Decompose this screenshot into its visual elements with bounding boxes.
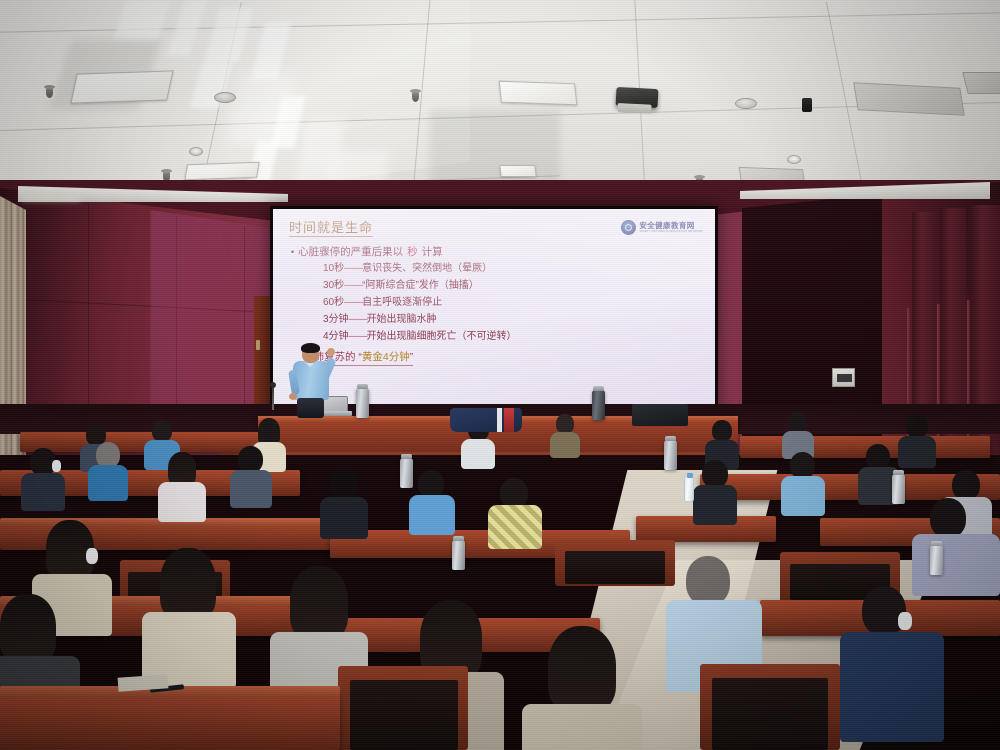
- bullet-dot-icon: •: [291, 247, 294, 258]
- slide-body: • 心脏骤停的严重后果以秒计算 10秒——意识丧失、突然倒地（晕厥） 30秒——…: [289, 246, 703, 366]
- person-head: [930, 498, 966, 538]
- item-dash: ——: [349, 314, 367, 325]
- conference-room-photo: 时间就是生命 安全健康教育网 SAFETY AND HEALTH EDUCATI…: [0, 0, 1000, 750]
- person-torso: [488, 505, 542, 549]
- slide-list-item: 30秒——“阿斯综合症”发作（抽搐）: [323, 280, 703, 293]
- person-torso: [230, 470, 272, 508]
- person-hair: [290, 566, 348, 640]
- person-torso: [522, 704, 642, 750]
- person-head: [906, 414, 928, 438]
- person-head: [952, 470, 980, 500]
- person-torso: [21, 473, 65, 511]
- ceiling-shadow: [430, 110, 560, 190]
- person-torso: [898, 436, 936, 468]
- person-head: [788, 412, 807, 433]
- item-time: 4分钟: [323, 331, 349, 342]
- face-mask-icon: [52, 460, 61, 472]
- conclusion-suffix: ”: [410, 351, 414, 363]
- thermos-flask: [930, 545, 943, 575]
- cove-light: [22, 197, 80, 201]
- item-text: 开始出现脑细胞死亡（不可逆转）: [367, 331, 517, 342]
- person-head: [790, 452, 815, 479]
- slide-list-item: 3分钟——开始出现脑水肿: [323, 314, 703, 327]
- chair-back-panel: [350, 680, 458, 750]
- item-time: 60秒: [323, 297, 344, 308]
- person-hair: [168, 452, 196, 486]
- smoke-detector-icon: [735, 98, 757, 109]
- presenter-torso: [293, 361, 329, 400]
- thermos-flask: [592, 390, 605, 420]
- person-torso: [409, 495, 455, 535]
- presenter-speaker: [286, 344, 338, 416]
- person-head: [500, 478, 528, 508]
- item-dash: ——: [344, 297, 362, 308]
- panel-light: [499, 165, 536, 177]
- item-text: 开始出现脑水肿: [367, 314, 437, 325]
- person-head: [702, 460, 728, 488]
- downlight: [787, 155, 801, 164]
- shield-logo-icon: [621, 220, 636, 235]
- person-head: [556, 414, 574, 434]
- smoke-detector-icon: [214, 92, 236, 103]
- person-torso: [840, 632, 944, 742]
- travel-bag: [450, 408, 522, 432]
- chair-back-panel: [712, 678, 828, 750]
- microphone-icon: [272, 386, 274, 410]
- slide-list-item: 60秒——自主呼吸逐渐停止: [323, 297, 703, 310]
- person-torso: [320, 497, 368, 539]
- logo-text-cn: 安全健康教育网: [639, 222, 703, 230]
- item-dash: ——: [344, 263, 362, 274]
- person-head: [330, 470, 358, 500]
- person-head: [418, 470, 444, 498]
- thermos-flask: [664, 440, 677, 470]
- slide-bullet: • 心脏骤停的严重后果以秒计算: [291, 246, 703, 259]
- bench-desk: [0, 690, 340, 750]
- air-vent: [962, 72, 1000, 94]
- logo-text-en: SAFETY AND HEALTH EDUCATION NETWORK: [639, 231, 703, 234]
- panel-light: [499, 81, 578, 106]
- water-bottle: [684, 476, 694, 502]
- item-text: 意识丧失、突然倒地（晕厥）: [362, 263, 492, 274]
- presentation-slide: 时间就是生命 安全健康教育网 SAFETY AND HEALTH EDUCATI…: [273, 209, 715, 415]
- sprinkler-icon: [412, 92, 419, 102]
- person-torso: [158, 482, 206, 522]
- person-hair: [0, 594, 56, 664]
- ceiling-projector: [616, 87, 659, 108]
- bench-desk: [740, 436, 990, 458]
- presenter-pointing-hand: [327, 348, 335, 356]
- person-head: [686, 556, 730, 606]
- thermos-flask: [356, 388, 369, 418]
- item-dash: ——: [349, 331, 367, 342]
- conclusion-highlight: 黄金4分钟: [362, 351, 410, 363]
- person-head: [152, 420, 172, 442]
- person-hair: [160, 548, 216, 620]
- slide-list-item: 10秒——意识丧失、突然倒地（晕厥）: [323, 263, 703, 276]
- item-time: 3分钟: [323, 314, 349, 325]
- face-mask-icon: [898, 612, 912, 630]
- person-hair: [548, 626, 616, 712]
- item-text: 自主呼吸逐渐停止: [362, 297, 442, 308]
- wall-control-panel[interactable]: [832, 368, 855, 387]
- person-head: [238, 446, 263, 473]
- downlight: [189, 147, 203, 156]
- security-camera-icon: [802, 98, 812, 112]
- item-time: 10秒: [323, 263, 344, 274]
- person-head: [712, 420, 732, 442]
- panel-light: [70, 70, 173, 103]
- face-mask-icon: [86, 548, 98, 564]
- item-text: “阿斯综合症”发作（抽搐）: [362, 280, 479, 291]
- slide-list-item: 4分钟——开始出现脑细胞死亡（不可逆转）: [323, 331, 703, 344]
- bullet-highlight: 秒: [407, 246, 418, 259]
- panel-light: [184, 162, 259, 181]
- person-torso: [461, 439, 495, 469]
- presenter-legs: [297, 398, 324, 418]
- item-dash: ——: [344, 280, 362, 291]
- thermos-flask: [892, 474, 905, 504]
- person-torso: [912, 534, 1000, 596]
- screen-surface: 时间就是生命 安全健康教育网 SAFETY AND HEALTH EDUCATI…: [273, 209, 715, 415]
- sprinkler-icon: [46, 88, 53, 98]
- person-torso: [781, 476, 825, 516]
- thermos-flask: [452, 540, 465, 570]
- bullet-suffix: 计算: [422, 246, 443, 259]
- brand-logo: 安全健康教育网 SAFETY AND HEALTH EDUCATION NETW…: [621, 220, 703, 235]
- thermos-flask: [400, 458, 413, 488]
- person-torso: [550, 432, 580, 458]
- door-handle-icon[interactable]: [256, 340, 260, 350]
- air-vent: [853, 82, 965, 116]
- person-torso: [693, 485, 737, 525]
- item-time: 30秒: [323, 280, 344, 291]
- desk-monitor: [632, 404, 688, 426]
- presenter-glasses-icon: [303, 351, 318, 354]
- chair-back-panel: [565, 551, 665, 584]
- bullet-prefix: 心脏骤停的严重后果以: [298, 246, 403, 259]
- person-torso: [88, 465, 128, 501]
- logo-text: 安全健康教育网 SAFETY AND HEALTH EDUCATION NETW…: [639, 222, 703, 234]
- presenter-hand: [289, 393, 297, 400]
- slide-title: 时间就是生命: [289, 221, 373, 237]
